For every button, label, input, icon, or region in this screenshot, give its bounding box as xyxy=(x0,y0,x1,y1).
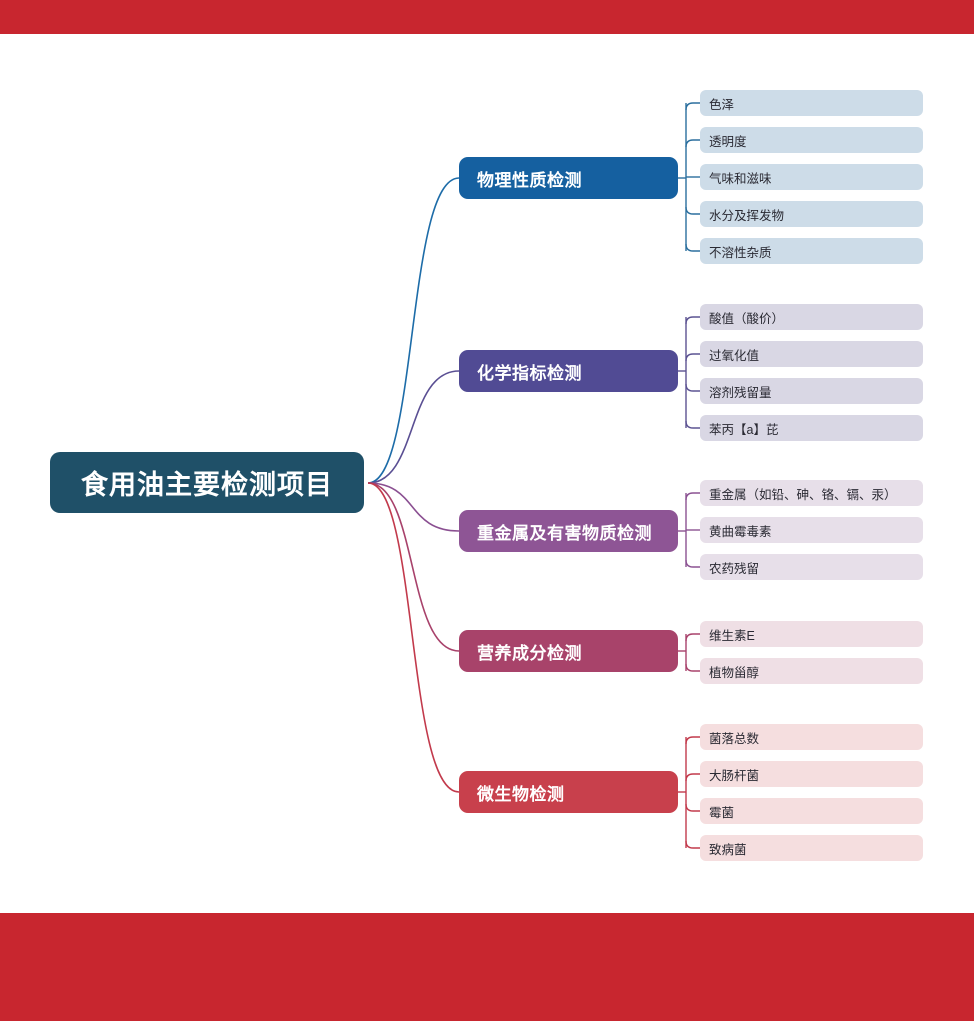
edge-leaf-5-2 xyxy=(686,774,700,781)
leaf-node[interactable]: 农药残留 xyxy=(700,554,923,580)
leaf-node-label: 霉菌 xyxy=(709,802,734,821)
leaf-node-label: 色泽 xyxy=(709,94,734,113)
root-node[interactable]: 食用油主要检测项目 xyxy=(50,452,364,513)
leaf-node[interactable]: 黄曲霉毒素 xyxy=(700,517,923,543)
edge-leaf-1-1 xyxy=(686,103,700,110)
branch-node-label: 微生物检测 xyxy=(477,780,565,805)
leaf-node[interactable]: 不溶性杂质 xyxy=(700,238,923,264)
leaf-node[interactable]: 重金属（如铅、砷、铬、镉、汞） xyxy=(700,480,923,506)
branch-node-label: 营养成分检测 xyxy=(477,639,582,664)
leaf-node[interactable]: 酸值（酸价） xyxy=(700,304,923,330)
leaf-node[interactable]: 苯丙【a】芘 xyxy=(700,415,923,441)
leaf-node-label: 菌落总数 xyxy=(709,728,759,747)
edge-leaf-4-2 xyxy=(686,664,700,671)
edge-root-to-branch-3 xyxy=(368,483,459,531)
branch-node-2[interactable]: 化学指标检测 xyxy=(459,350,678,392)
leaf-node[interactable]: 菌落总数 xyxy=(700,724,923,750)
edge-leaf-1-2 xyxy=(686,140,700,147)
leaf-node-label: 不溶性杂质 xyxy=(709,242,772,261)
edge-leaf-2-3 xyxy=(686,384,700,391)
leaf-node[interactable]: 霉菌 xyxy=(700,798,923,824)
edge-root-to-branch-2 xyxy=(368,371,459,483)
leaf-node-label: 大肠杆菌 xyxy=(709,765,759,784)
branch-node-3[interactable]: 重金属及有害物质检测 xyxy=(459,510,678,552)
leaf-node-label: 植物甾醇 xyxy=(709,662,759,681)
branch-node-label: 重金属及有害物质检测 xyxy=(477,519,652,544)
leaf-node[interactable]: 色泽 xyxy=(700,90,923,116)
leaf-node[interactable]: 透明度 xyxy=(700,127,923,153)
edge-leaf-5-4 xyxy=(686,841,700,848)
leaf-node-label: 透明度 xyxy=(709,131,747,150)
leaf-node-label: 苯丙【a】芘 xyxy=(709,419,778,438)
leaf-node[interactable]: 维生素E xyxy=(700,621,923,647)
edge-leaf-2-1 xyxy=(686,317,700,324)
leaf-node[interactable]: 溶剂残留量 xyxy=(700,378,923,404)
edge-leaf-2-4 xyxy=(686,421,700,428)
leaf-node-label: 气味和滋味 xyxy=(709,168,772,187)
edge-leaf-5-1 xyxy=(686,737,700,744)
leaf-node[interactable]: 气味和滋味 xyxy=(700,164,923,190)
leaf-node-label: 黄曲霉毒素 xyxy=(709,521,772,540)
edge-root-to-branch-1 xyxy=(368,178,459,483)
leaf-node[interactable]: 植物甾醇 xyxy=(700,658,923,684)
leaf-node-label: 溶剂残留量 xyxy=(709,382,772,401)
branch-node-label: 化学指标检测 xyxy=(477,359,582,384)
edge-leaf-1-5 xyxy=(686,244,700,251)
edge-leaf-2-2 xyxy=(686,354,700,361)
edge-leaf-1-4 xyxy=(686,207,700,214)
branch-node-label: 物理性质检测 xyxy=(477,166,582,191)
leaf-node[interactable]: 致病菌 xyxy=(700,835,923,861)
leaf-node-label: 酸值（酸价） xyxy=(709,308,784,327)
leaf-node-label: 致病菌 xyxy=(709,839,747,858)
leaf-node[interactable]: 过氧化值 xyxy=(700,341,923,367)
branch-node-5[interactable]: 微生物检测 xyxy=(459,771,678,813)
branch-node-4[interactable]: 营养成分检测 xyxy=(459,630,678,672)
leaf-node-label: 农药残留 xyxy=(709,558,759,577)
edge-leaf-5-3 xyxy=(686,804,700,811)
edge-leaf-4-1 xyxy=(686,634,700,641)
leaf-node-label: 水分及挥发物 xyxy=(709,205,784,224)
leaf-node-label: 重金属（如铅、砷、铬、镉、汞） xyxy=(709,484,897,503)
leaf-node[interactable]: 水分及挥发物 xyxy=(700,201,923,227)
leaf-node-label: 过氧化值 xyxy=(709,345,759,364)
leaf-node[interactable]: 大肠杆菌 xyxy=(700,761,923,787)
mindmap-canvas: 食用油主要检测项目 物理性质检测化学指标检测重金属及有害物质检测营养成分检测微生… xyxy=(0,0,974,1021)
root-node-label: 食用油主要检测项目 xyxy=(81,463,333,502)
leaf-node-label: 维生素E xyxy=(709,625,755,644)
edge-leaf-3-3 xyxy=(686,560,700,567)
branch-node-1[interactable]: 物理性质检测 xyxy=(459,157,678,199)
edge-leaf-3-1 xyxy=(686,493,700,500)
